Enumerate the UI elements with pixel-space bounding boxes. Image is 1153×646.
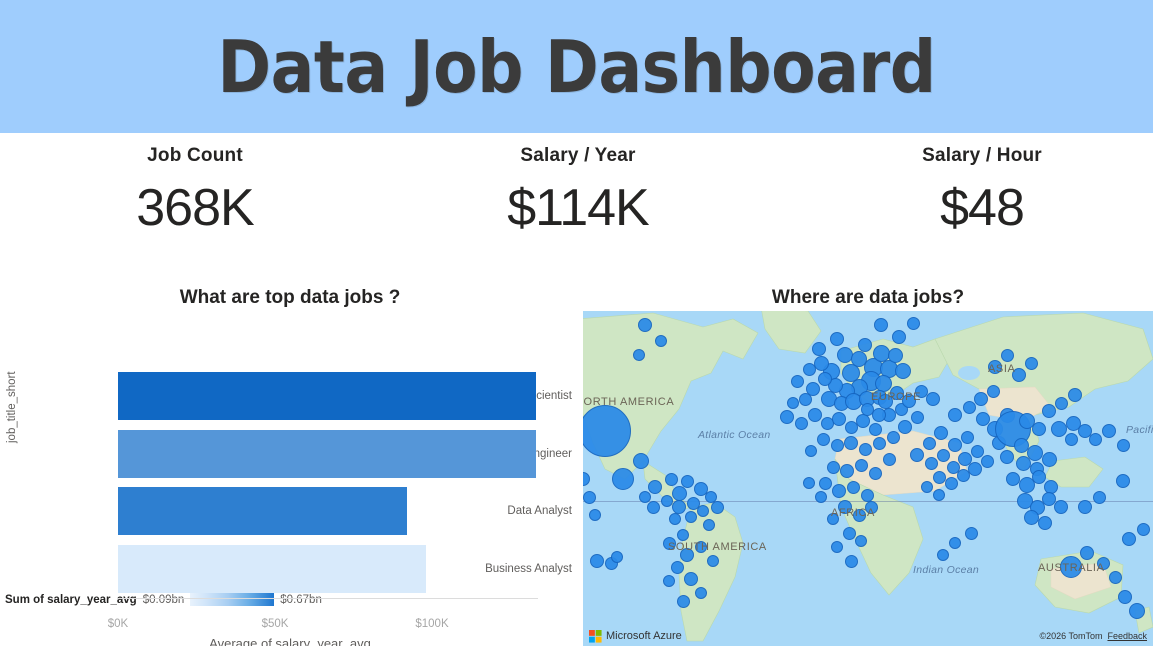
- map-bubble[interactable]: [937, 549, 949, 561]
- map-copyright-label: ©2026 TomTom: [1039, 631, 1102, 641]
- bar-segment[interactable]: [118, 487, 407, 535]
- microsoft-logo-icon: [589, 630, 602, 643]
- map-bubble[interactable]: [910, 448, 924, 462]
- map-bubble[interactable]: [1122, 532, 1136, 546]
- map-bubble[interactable]: [1116, 474, 1130, 488]
- map-bubble[interactable]: [872, 408, 886, 422]
- map-bubble[interactable]: [583, 472, 590, 486]
- map-bubble[interactable]: [832, 412, 846, 426]
- map-bubble[interactable]: [907, 317, 920, 330]
- map-bubble[interactable]: [911, 411, 924, 424]
- map-bubble[interactable]: [1025, 357, 1038, 370]
- map-bubble[interactable]: [661, 495, 673, 507]
- map-bubble[interactable]: [1038, 516, 1052, 530]
- map-bubble[interactable]: [937, 449, 950, 462]
- map-bubble[interactable]: [949, 537, 961, 549]
- map-bubble[interactable]: [1102, 424, 1116, 438]
- bar-chart-plot-area[interactable]: job_title_short Data ScientistData Engin…: [0, 273, 580, 646]
- map-bubble[interactable]: [819, 477, 832, 490]
- bar-segment[interactable]: [118, 372, 536, 420]
- map-bubble[interactable]: [707, 555, 719, 567]
- map-bubble[interactable]: [680, 548, 694, 562]
- map-bubble[interactable]: [655, 335, 667, 347]
- map-panel[interactable]: Where are data jobs?: [583, 273, 1153, 646]
- bar-segment[interactable]: [118, 430, 536, 478]
- map-bubble[interactable]: [855, 459, 868, 472]
- map-bubble[interactable]: [948, 408, 962, 422]
- map-bubble[interactable]: [639, 491, 651, 503]
- map-bubble[interactable]: [971, 445, 984, 458]
- map-bubble[interactable]: [858, 338, 872, 352]
- map-bubble[interactable]: [883, 453, 896, 466]
- map-bubble[interactable]: [895, 363, 911, 379]
- map-bubble[interactable]: [873, 345, 890, 362]
- map-bubble[interactable]: [589, 509, 601, 521]
- map-bubble[interactable]: [945, 477, 958, 490]
- map-bubble[interactable]: [921, 481, 933, 493]
- map-bubble[interactable]: [832, 484, 846, 498]
- map-bubble[interactable]: [869, 423, 882, 436]
- bar-segment[interactable]: [118, 545, 426, 593]
- map-bubble[interactable]: [827, 513, 839, 525]
- map-bubble[interactable]: [859, 443, 872, 456]
- bar-category-label: Data Analyst: [462, 487, 580, 535]
- map-bubble[interactable]: [831, 541, 843, 553]
- map-bubble[interactable]: [934, 426, 948, 440]
- map-bubble[interactable]: [926, 392, 940, 406]
- map-bubble[interactable]: [856, 414, 870, 428]
- map-bubble[interactable]: [1068, 388, 1082, 402]
- page-title: Data Job Dashboard: [217, 31, 935, 103]
- map-bubble[interactable]: [873, 437, 886, 450]
- map-bubble[interactable]: [948, 438, 962, 452]
- bar-row[interactable]: Business Analyst: [0, 545, 580, 593]
- map-bubble[interactable]: [633, 453, 649, 469]
- x-axis-tick-label: $50K: [262, 618, 289, 630]
- map-bubble[interactable]: [1060, 556, 1082, 578]
- map-bubble[interactable]: [981, 455, 994, 468]
- map-bubble[interactable]: [672, 500, 686, 514]
- map-bubble[interactable]: [711, 501, 724, 514]
- map-bubble[interactable]: [1093, 491, 1106, 504]
- map-bubble[interactable]: [1012, 368, 1026, 382]
- map-bubble[interactable]: [830, 332, 844, 346]
- map-bubble[interactable]: [665, 473, 678, 486]
- map-bubble[interactable]: [963, 401, 976, 414]
- map-bubble[interactable]: [815, 491, 827, 503]
- x-axis-line: [118, 598, 538, 599]
- map-bubble[interactable]: [869, 467, 882, 480]
- map-bubble[interactable]: [611, 551, 623, 563]
- map-bubble[interactable]: [803, 363, 816, 376]
- map-bubble[interactable]: [855, 535, 867, 547]
- map-bubble[interactable]: [1024, 510, 1039, 525]
- map-bubble[interactable]: [1055, 397, 1068, 410]
- x-axis-tick-label: $100K: [415, 618, 448, 630]
- map-bubble[interactable]: [805, 445, 817, 457]
- map-bubble[interactable]: [827, 461, 840, 474]
- map-bubble[interactable]: [861, 489, 874, 502]
- map-bubble[interactable]: [847, 481, 860, 494]
- map-bubble[interactable]: [681, 475, 694, 488]
- map-bubble[interactable]: [818, 372, 832, 386]
- map-bubble[interactable]: [853, 509, 866, 522]
- map-bubble[interactable]: [988, 360, 1002, 374]
- map-bubble[interactable]: [812, 342, 826, 356]
- kpi-label-salary-year: Salary / Year: [458, 145, 698, 167]
- map-bubble[interactable]: [1129, 603, 1145, 619]
- bar-chart-panel[interactable]: What are top data jobs ? Sum of salary_y…: [0, 273, 580, 646]
- kpi-row: Job Count 368K Salary / Year $114K Salar…: [0, 133, 1153, 273]
- map-bubble[interactable]: [961, 431, 974, 444]
- map-bubble[interactable]: [865, 501, 878, 514]
- x-axis-tick-label: $0K: [108, 618, 128, 630]
- map-bubble[interactable]: [671, 561, 684, 574]
- map-bubble[interactable]: [663, 575, 675, 587]
- map-bubble[interactable]: [976, 412, 990, 426]
- map-bubble[interactable]: [843, 527, 856, 540]
- bar-row[interactable]: Data Analyst: [0, 487, 580, 535]
- kpi-card-salary-year[interactable]: Salary / Year $114K: [458, 133, 698, 239]
- bar-category-label: Business Analyst: [462, 545, 580, 593]
- map-bubble[interactable]: [902, 394, 916, 408]
- map-bubble[interactable]: [583, 405, 631, 457]
- map-bubble[interactable]: [590, 554, 604, 568]
- map-bubble[interactable]: [803, 477, 815, 489]
- map-bubble[interactable]: [695, 587, 707, 599]
- map-bubble[interactable]: [638, 318, 652, 332]
- map-bubble[interactable]: [1109, 571, 1122, 584]
- map-bubble[interactable]: [875, 375, 892, 392]
- dashboard-page: Data Job Dashboard Job Count 368K Salary…: [0, 0, 1153, 646]
- map-bubble[interactable]: [874, 318, 888, 332]
- map-feedback-link[interactable]: Feedback: [1107, 631, 1147, 641]
- map-canvas[interactable]: NORTH AMERICASOUTH AMERICAEUROPEAFRICAAS…: [583, 311, 1153, 646]
- map-bubble[interactable]: [612, 468, 634, 490]
- map-title: Where are data jobs?: [583, 287, 1153, 309]
- map-bubble[interactable]: [1032, 422, 1046, 436]
- map-bubble[interactable]: [791, 375, 804, 388]
- x-axis-title: Average of salary_year_avg: [0, 636, 580, 646]
- map-bubble[interactable]: [1000, 450, 1014, 464]
- kpi-card-job-count[interactable]: Job Count 368K: [75, 133, 315, 239]
- map-bubble[interactable]: [1080, 546, 1094, 560]
- dashboard-header: Data Job Dashboard: [0, 0, 1153, 133]
- map-bubble[interactable]: [799, 393, 812, 406]
- map-bubble[interactable]: [831, 439, 844, 452]
- map-bubble[interactable]: [974, 392, 988, 406]
- map-credit: ©2026 TomTom Feedback: [1039, 631, 1147, 641]
- map-bubble[interactable]: [1054, 500, 1068, 514]
- map-bubble[interactable]: [697, 505, 709, 517]
- map-bubble[interactable]: [845, 555, 858, 568]
- map-bubble[interactable]: [898, 420, 912, 434]
- map-bubble[interactable]: [1118, 590, 1132, 604]
- map-bubble[interactable]: [663, 537, 676, 550]
- map-bubble[interactable]: [1016, 456, 1031, 471]
- map-bubble[interactable]: [1065, 433, 1078, 446]
- kpi-card-salary-hour[interactable]: Salary / Hour $48: [862, 133, 1102, 239]
- map-bubble[interactable]: [1032, 470, 1046, 484]
- azure-brand: Microsoft Azure: [589, 630, 682, 643]
- map-bubble[interactable]: [1137, 523, 1150, 536]
- kpi-value-job-count: 368K: [75, 179, 315, 239]
- map-bubble[interactable]: [795, 417, 808, 430]
- map-bubble[interactable]: [1042, 404, 1056, 418]
- map-bubble[interactable]: [703, 519, 715, 531]
- map-bubble[interactable]: [968, 462, 982, 476]
- map-bubble[interactable]: [1001, 349, 1014, 362]
- job-location-bubbles[interactable]: [583, 311, 1153, 646]
- map-bubble[interactable]: [838, 500, 852, 514]
- kpi-label-job-count: Job Count: [75, 145, 315, 167]
- map-bubble[interactable]: [933, 489, 945, 501]
- map-bubble[interactable]: [888, 348, 903, 363]
- map-bubble[interactable]: [672, 486, 687, 501]
- map-bubble[interactable]: [840, 464, 854, 478]
- map-bubble[interactable]: [1089, 433, 1102, 446]
- map-bubble[interactable]: [887, 431, 900, 444]
- map-bubble[interactable]: [695, 541, 707, 553]
- bar-row[interactable]: Data Scientist: [0, 372, 580, 420]
- map-bubble[interactable]: [1117, 439, 1130, 452]
- map-bubble[interactable]: [684, 572, 698, 586]
- map-bubble[interactable]: [892, 330, 906, 344]
- kpi-value-salary-hour: $48: [862, 179, 1102, 239]
- map-bubble[interactable]: [669, 513, 681, 525]
- kpi-label-salary-hour: Salary / Hour: [862, 145, 1102, 167]
- map-bubble[interactable]: [787, 397, 799, 409]
- map-bubble[interactable]: [648, 480, 662, 494]
- map-bubble[interactable]: [677, 529, 689, 541]
- map-bubble[interactable]: [933, 471, 946, 484]
- bar-row[interactable]: Data Engineer: [0, 430, 580, 478]
- map-bubble[interactable]: [925, 457, 938, 470]
- map-bubble[interactable]: [817, 433, 830, 446]
- map-bubble[interactable]: [987, 385, 1000, 398]
- map-bubble[interactable]: [1051, 421, 1067, 437]
- map-bubble[interactable]: [780, 410, 794, 424]
- azure-brand-label: Microsoft Azure: [606, 630, 682, 642]
- map-bubble[interactable]: [808, 408, 822, 422]
- map-bubble[interactable]: [1078, 500, 1092, 514]
- map-bubble[interactable]: [685, 511, 697, 523]
- map-bubble[interactable]: [923, 437, 936, 450]
- map-bubble[interactable]: [1006, 472, 1020, 486]
- map-bubble[interactable]: [1097, 557, 1110, 570]
- map-bubble[interactable]: [647, 501, 660, 514]
- map-bubble[interactable]: [677, 595, 690, 608]
- map-bubble[interactable]: [844, 436, 858, 450]
- map-bubble[interactable]: [1042, 452, 1057, 467]
- kpi-value-salary-year: $114K: [458, 179, 698, 239]
- map-bubble[interactable]: [583, 491, 596, 504]
- map-attribution-bar: Microsoft Azure ©2026 TomTom Feedback: [583, 626, 1153, 646]
- map-bubble[interactable]: [814, 356, 829, 371]
- map-bubble[interactable]: [861, 403, 874, 416]
- map-bubble[interactable]: [633, 349, 645, 361]
- map-bubble[interactable]: [965, 527, 978, 540]
